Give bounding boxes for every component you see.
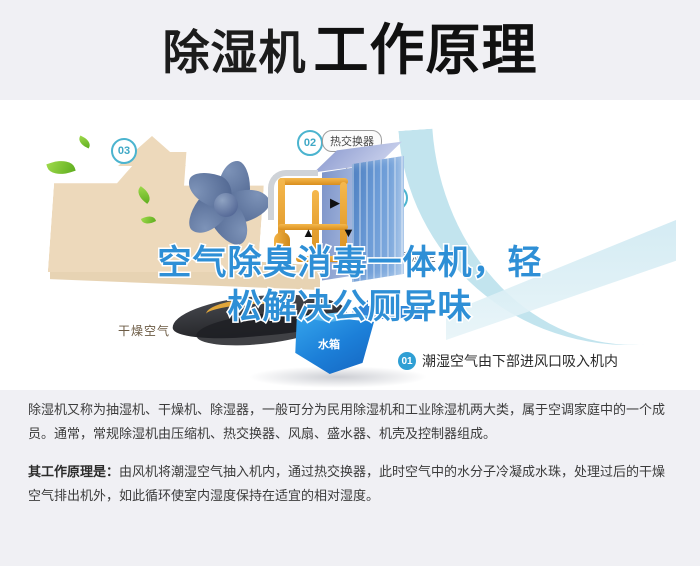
page-title: 除湿机 工作原理: [0, 0, 700, 100]
legend-text-01: 潮湿空气由下部进风口吸入机内: [422, 351, 618, 371]
body-paragraph-2-lead: 其工作原理是：: [28, 464, 119, 479]
title-part-one: 除湿机: [162, 30, 306, 77]
leaf-icon: [77, 136, 92, 149]
fan-hub: [214, 193, 238, 217]
infographic-page: 除湿机 工作原理 03 02 01 热交换器 干燥空气 潮湿空气: [0, 0, 700, 566]
fan-icon: [178, 155, 274, 251]
article-body: 除湿机又称为抽湿机、干燥机、除湿器，一般可分为民用除湿机和工业除湿机两大类，属于…: [0, 398, 700, 522]
working-principle-diagram: 03 02 01 热交换器 干燥空气 潮湿空气: [0, 100, 700, 390]
diagram-badge-03: 03: [111, 138, 137, 164]
pipe-segment: [340, 182, 347, 262]
water-tank-label: 水箱: [318, 336, 340, 352]
diagram-badge-02: 02: [297, 130, 323, 156]
body-paragraph-2: 其工作原理是：由风机将潮湿空气抽入机内，通过热交换器，此时空气中的水分子冷凝成水…: [28, 460, 672, 508]
dry-air-label: 干燥空气: [118, 322, 170, 339]
legend-badge-01: 01: [398, 352, 416, 370]
pipe-segment: [296, 256, 350, 262]
body-paragraph-2-rest: 由风机将潮湿空气抽入机内，通过热交换器，此时空气中的水分子冷凝成水珠，处理过后的…: [28, 464, 665, 503]
compressor-cylinder: [274, 232, 290, 264]
title-wrap: 除湿机 工作原理: [162, 23, 537, 78]
diagram-legend: 01 潮湿空气由下部进风口吸入机内 02 空气中的水分经过蒸发器冷凝成水珠 03…: [398, 348, 698, 390]
legend-text-02: 空气中的水分经过蒸发器冷凝成水珠: [422, 389, 646, 390]
compressor-piping: ▶ ▲ ▼: [268, 170, 364, 280]
leaf-icon: [46, 156, 75, 178]
legend-item-01: 01 潮湿空气由下部进风口吸入机内: [398, 348, 698, 374]
intake-arrow-shaft: [366, 306, 422, 319]
flow-arrow-right-icon: ▶: [330, 196, 340, 209]
flow-arrow-down-icon: ▼: [342, 226, 355, 239]
title-part-two: 工作原理: [313, 23, 537, 78]
humid-air-label: 潮湿空气: [398, 248, 450, 265]
flow-arrow-up-icon: ▲: [302, 226, 315, 239]
pipe-segment: [278, 178, 348, 185]
water-tank: 水箱: [292, 312, 374, 374]
body-paragraph-1: 除湿机又称为抽湿机、干燥机、除湿器，一般可分为民用除湿机和工业除湿机两大类，属于…: [28, 398, 672, 446]
legend-item-02: 02 空气中的水分经过蒸发器冷凝成水珠: [398, 386, 698, 390]
